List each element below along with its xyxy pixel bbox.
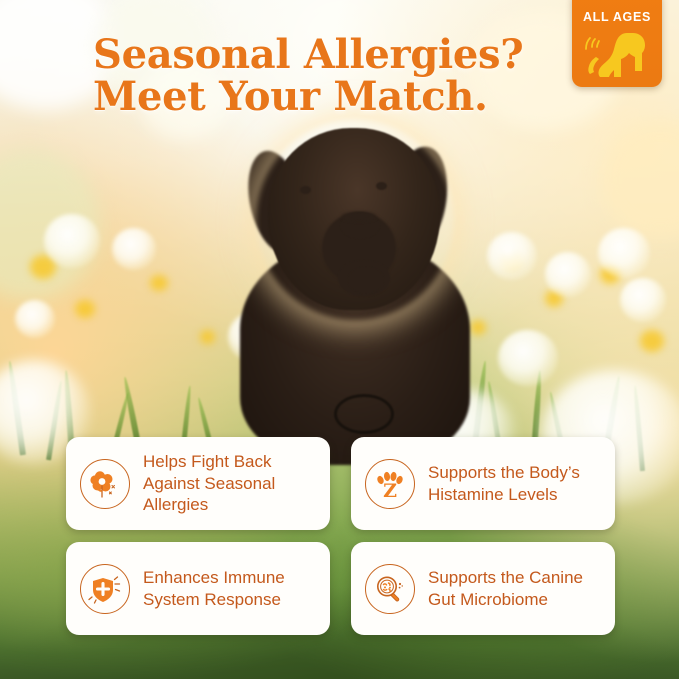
dandelion-seedhead: [498, 330, 558, 386]
benefit-card-text: Enhances Immune System Response: [143, 567, 322, 611]
yellow-flower-bokeh: [150, 275, 168, 291]
dandelion-seedhead: [620, 278, 666, 322]
benefit-card: Z Supports the Body’s Histamine Levels: [351, 437, 615, 530]
yellow-flower-bokeh: [640, 330, 664, 352]
dog-collar: [334, 394, 394, 434]
benefit-cards: Helps Fight Back Against Seasonal Allerg…: [66, 437, 615, 637]
benefit-card: Supports the Canine Gut Microbiome: [351, 542, 615, 635]
product-lifestyle-image: Seasonal Allergies? Meet Your Match. ALL…: [0, 0, 679, 679]
yellow-flower-bokeh: [200, 330, 215, 344]
all-ages-badge: ALL AGES: [572, 0, 662, 87]
benefit-card: Enhances Immune System Response: [66, 542, 330, 635]
yellow-flower-bokeh: [75, 300, 95, 318]
magnifying-glass-microbiome-icon: [365, 564, 415, 614]
dog-photo-subject: [230, 120, 480, 450]
dandelion-seedhead: [44, 214, 100, 268]
headline-line-1: Seasonal Allergies?: [93, 31, 523, 78]
sitting-dog-icon: [583, 27, 653, 81]
benefit-card: Helps Fight Back Against Seasonal Allerg…: [66, 437, 330, 530]
shield-plus-immune-icon: [80, 564, 130, 614]
benefit-card-text: Supports the Body’s Histamine Levels: [428, 462, 607, 506]
headline: Seasonal Allergies? Meet Your Match.: [93, 34, 563, 119]
benefit-card-text: Helps Fight Back Against Seasonal Allerg…: [143, 451, 322, 516]
dandelion-seedhead: [598, 228, 650, 278]
benefit-card-text: Supports the Canine Gut Microbiome: [428, 567, 607, 611]
dandelion-seedhead: [15, 300, 55, 338]
flower-pollen-icon: [80, 459, 130, 509]
dandelion-seedhead: [545, 252, 591, 297]
all-ages-label: ALL AGES: [572, 10, 662, 24]
svg-text:Z: Z: [383, 480, 397, 501]
dandelion-seedhead: [112, 228, 156, 270]
paw-print-histamine-icon: Z: [365, 459, 415, 509]
dandelion-seedhead: [487, 232, 537, 280]
dog-backlight-rim: [256, 120, 454, 320]
headline-line-2: Meet Your Match.: [93, 76, 563, 118]
